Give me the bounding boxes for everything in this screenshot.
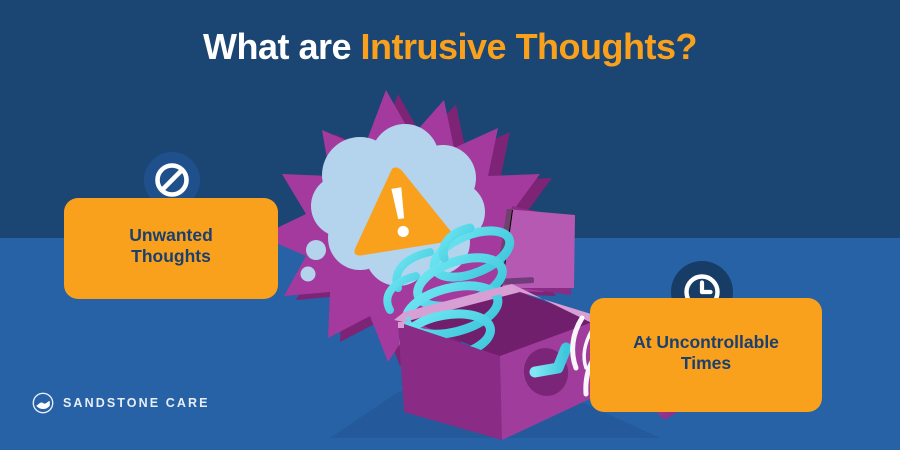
sandstone-circle-icon [32,392,54,414]
callout-left-line1: Unwanted [129,225,213,245]
page-title: What are Intrusive Thoughts? [0,26,900,68]
thought-bubble-small-1 [306,240,326,260]
callout-right-line2: Times [681,353,731,373]
callout-left-line2: Thoughts [131,246,211,266]
callout-unwanted-thoughts[interactable]: Unwanted Thoughts [64,198,278,299]
thought-bubble-small-2 [301,267,316,282]
title-plain: What are [203,26,361,67]
callout-uncontrollable-times[interactable]: At Uncontrollable Times [590,298,822,412]
title-accent: Intrusive Thoughts? [361,26,698,67]
infographic-canvas: What are Intrusive Thoughts? Unwanted Th… [0,0,900,450]
brand-name: SANDSTONE CARE [63,396,210,410]
brand-logo[interactable]: SANDSTONE CARE [32,392,210,414]
prohibition-icon [152,160,192,200]
callout-right-line1: At Uncontrollable [633,332,779,352]
